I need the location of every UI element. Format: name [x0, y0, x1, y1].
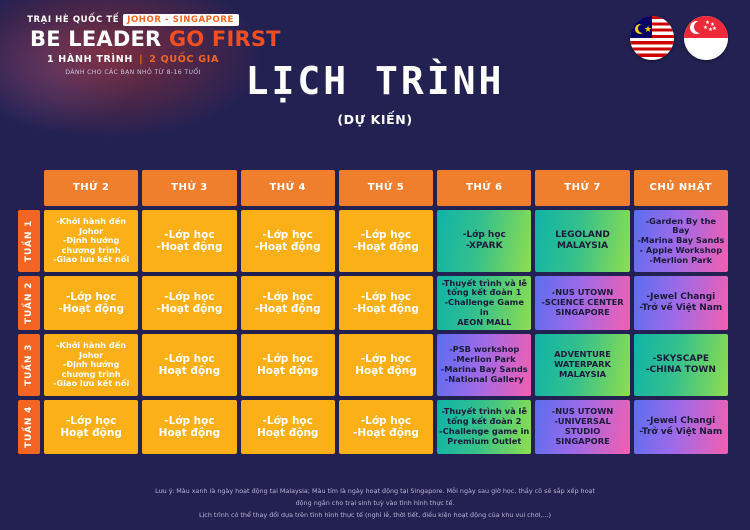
week-label-2: TUẦN 2	[18, 276, 40, 330]
schedule-cell-text: -Lớp học Hoạt động	[159, 353, 220, 378]
logo-age-note: DÀNH CHO CÁC BẠN NHỎ TỪ 8-16 TUỔI	[30, 69, 236, 76]
schedule-cell: -Lớp học -Hoạt động	[339, 400, 433, 454]
schedule-cell-text: -Lớp học Hoạt động	[257, 353, 318, 378]
week-label-3: TUẦN 3	[18, 334, 40, 396]
schedule-cell: -Lớp học -Hoạt động	[241, 276, 335, 330]
column-header-5: THỨ 6	[437, 170, 531, 206]
schedule-cell: -NUS UTOWN -SCIENCE CENTER SINGAPORE	[535, 276, 629, 330]
schedule-header-row: THỨ 2THỨ 3THỨ 4THỨ 5THỨ 6THỨ 7CHỦ NHẬT	[0, 170, 750, 206]
schedule-cell: -Jewel Changi -Trở về Việt Nam	[634, 400, 728, 454]
schedule-cell: -Lớp học Hoạt động	[241, 400, 335, 454]
schedule-cell: -PSB workshop -Merlion Park -Marina Bay …	[437, 334, 531, 396]
schedule-cell-text: -Lớp học -XPARK	[463, 230, 506, 251]
column-header-label: THỨ 2	[73, 182, 109, 194]
column-header-label: THỨ 7	[564, 182, 600, 194]
logo-tagline-pre: TRẠI HÈ QUỐC TẾ	[27, 15, 119, 25]
column-header-label: CHỦ NHẬT	[650, 182, 713, 194]
schedule-cell: -SKYSCAPE -CHINA TOWN	[634, 334, 728, 396]
schedule-cell: -Khởi hành đến Johor -Định hướng chương …	[44, 334, 138, 396]
schedule-cell: -Lớp học -Hoạt động	[339, 210, 433, 272]
logo-subline: 1 HÀNH TRÌNH | 2 QUỐC GIA	[30, 54, 236, 65]
schedule-grid: THỨ 2THỨ 3THỨ 4THỨ 5THỨ 6THỨ 7CHỦ NHẬTTU…	[0, 170, 750, 454]
schedule-cell-text: -NUS UTOWN -UNIVERSAL STUDIO SINGAPORE	[537, 407, 627, 446]
malaysia-flag-icon: ★	[630, 16, 674, 60]
schedule-cell: -Thuyết trình và lễ tổng kết đoàn 2 -Cha…	[437, 400, 531, 454]
schedule-cell-text: -Lớp học Hoạt động	[60, 415, 121, 440]
schedule-cell: -Lớp học -Hoạt động	[339, 276, 433, 330]
schedule-cell: -Lớp học -Hoạt động	[44, 276, 138, 330]
schedule-cell-text: -SKYSCAPE -CHINA TOWN	[646, 354, 716, 375]
logo-tagline-highlight: JOHOR - SINGAPORE	[123, 14, 239, 26]
week-label-4: TUẦN 4	[18, 400, 40, 454]
schedule-cell-text: -Lớp học -Hoạt động	[353, 415, 419, 440]
schedule-cell: -Khởi hành đến Johor -Định hướng chương …	[44, 210, 138, 272]
schedule-cell-text: -NUS UTOWN -SCIENCE CENTER SINGAPORE	[541, 288, 623, 317]
column-header-label: THỨ 3	[171, 182, 207, 194]
schedule-cell: -Lớp học Hoạt động	[44, 400, 138, 454]
footer-line-3: Lịch trình có thể thay đổi dựa trên tình…	[118, 510, 632, 521]
column-header-2: THỨ 3	[142, 170, 236, 206]
schedule-cell-text: -Lớp học -Hoạt động	[353, 229, 419, 254]
schedule-row: TUẦN 3-Khởi hành đến Johor -Định hướng c…	[0, 334, 750, 396]
schedule-cell-text: -Lớp học -Hoạt động	[157, 229, 223, 254]
week-label-1: TUẦN 1	[18, 210, 40, 272]
page-subtitle: (DỰ KIẾN)	[0, 112, 750, 127]
column-header-label: THỨ 5	[368, 182, 404, 194]
logo-subline-white: 1 HÀNH TRÌNH	[47, 54, 133, 65]
schedule-cell-text: -Lớp học -Hoạt động	[157, 291, 223, 316]
schedule-cell-text: -Thuyết trình và lễ tổng kết đoàn 2 -Cha…	[439, 407, 529, 446]
week-column-spacer	[18, 170, 40, 206]
schedule-cell-text: -Khởi hành đến Johor -Định hướng chương …	[53, 217, 129, 264]
column-header-4: THỨ 5	[339, 170, 433, 206]
schedule-cell: -Lớp học Hoạt động	[142, 400, 236, 454]
schedule-cell-text: -Lớp học Hoạt động	[355, 353, 416, 378]
schedule-cell-text: -Jewel Changi -Trở về Việt Nam	[639, 292, 722, 313]
schedule-cell-text: -Garden By the Bay -Marina Bay Sands - A…	[636, 217, 726, 266]
schedule-cell-text: -Lớp học -Hoạt động	[353, 291, 419, 316]
schedule-cell-text: -Lớp học -Hoạt động	[255, 291, 321, 316]
schedule-cell-text: LEGOLAND MALAYSIA	[555, 230, 610, 251]
schedule-cell: ADVENTURE WATERPARK MALAYSIA	[535, 334, 629, 396]
schedule-cell-text: -Lớp học -Hoạt động	[58, 291, 124, 316]
schedule-cell: -Lớp học Hoạt động	[241, 334, 335, 396]
schedule-cell-text: -PSB workshop -Merlion Park -Marina Bay …	[441, 345, 528, 384]
column-header-label: THỨ 4	[269, 182, 305, 194]
schedule-row: TUẦN 2-Lớp học -Hoạt động-Lớp học -Hoạt …	[0, 276, 750, 330]
schedule-cell: -Lớp học Hoạt động	[142, 334, 236, 396]
logo-headline-orange: GO FIRST	[169, 27, 281, 51]
footer-line-1: Lưu ý: Màu xanh là ngày hoạt động tại Ma…	[118, 486, 632, 497]
column-header-1: THỨ 2	[44, 170, 138, 206]
flags-group: ★ ★ ★ ★ ★ ★	[630, 16, 728, 60]
camp-logo: TRẠI HÈ QUỐC TẾ JOHOR - SINGAPORE BE LEA…	[30, 14, 236, 76]
schedule-cell: -Thuyết trình và lễ tổng kết đoàn 1 -Cha…	[437, 276, 531, 330]
column-header-7: CHỦ NHẬT	[634, 170, 728, 206]
footer-line-2: động ngắn cho trại sinh tuỳ vào tình hìn…	[118, 498, 632, 509]
schedule-cell: LEGOLAND MALAYSIA	[535, 210, 629, 272]
logo-subline-orange: 2 QUỐC GIA	[149, 54, 219, 65]
schedule-cell: -NUS UTOWN -UNIVERSAL STUDIO SINGAPORE	[535, 400, 629, 454]
column-header-label: THỨ 6	[466, 182, 502, 194]
schedule-cell-text: -Lớp học -Hoạt động	[255, 229, 321, 254]
schedule-cell: -Lớp học -XPARK	[437, 210, 531, 272]
column-header-6: THỨ 7	[535, 170, 629, 206]
schedule-row: TUẦN 1-Khởi hành đến Johor -Định hướng c…	[0, 210, 750, 272]
schedule-cell: -Lớp học Hoạt động	[339, 334, 433, 396]
column-header-3: THỨ 4	[241, 170, 335, 206]
schedule-cell-text: -Thuyết trình và lễ tổng kết đoàn 1 -Cha…	[439, 279, 529, 328]
logo-headline: BE LEADER GO FIRST	[30, 29, 236, 50]
poster-root: TRẠI HÈ QUỐC TẾ JOHOR - SINGAPORE BE LEA…	[0, 0, 750, 530]
schedule-cell: -Lớp học -Hoạt động	[241, 210, 335, 272]
logo-tagline: TRẠI HÈ QUỐC TẾ JOHOR - SINGAPORE	[30, 14, 236, 26]
schedule-cell-text: -Khởi hành đến Johor -Định hướng chương …	[53, 341, 129, 388]
schedule-cell: -Jewel Changi -Trở về Việt Nam	[634, 276, 728, 330]
logo-headline-white: BE LEADER	[30, 27, 161, 51]
schedule-cell-text: -Lớp học Hoạt động	[159, 415, 220, 440]
schedule-row: TUẦN 4-Lớp học Hoạt động-Lớp học Hoạt độ…	[0, 400, 750, 454]
logo-subline-separator: |	[137, 54, 145, 65]
footer-note: Lưu ý: Màu xanh là ngày hoạt động tại Ma…	[0, 486, 750, 522]
schedule-cell-text: ADVENTURE WATERPARK MALAYSIA	[554, 350, 611, 379]
singapore-flag-icon: ★ ★ ★ ★ ★	[684, 16, 728, 60]
schedule-cell-text: -Jewel Changi -Trở về Việt Nam	[639, 416, 722, 437]
schedule-cell: -Lớp học -Hoạt động	[142, 210, 236, 272]
schedule-cell: -Lớp học -Hoạt động	[142, 276, 236, 330]
schedule-cell-text: -Lớp học Hoạt động	[257, 415, 318, 440]
schedule-table: THỨ 2THỨ 3THỨ 4THỨ 5THỨ 6THỨ 7CHỦ NHẬTTU…	[0, 170, 750, 454]
schedule-cell: -Garden By the Bay -Marina Bay Sands - A…	[634, 210, 728, 272]
